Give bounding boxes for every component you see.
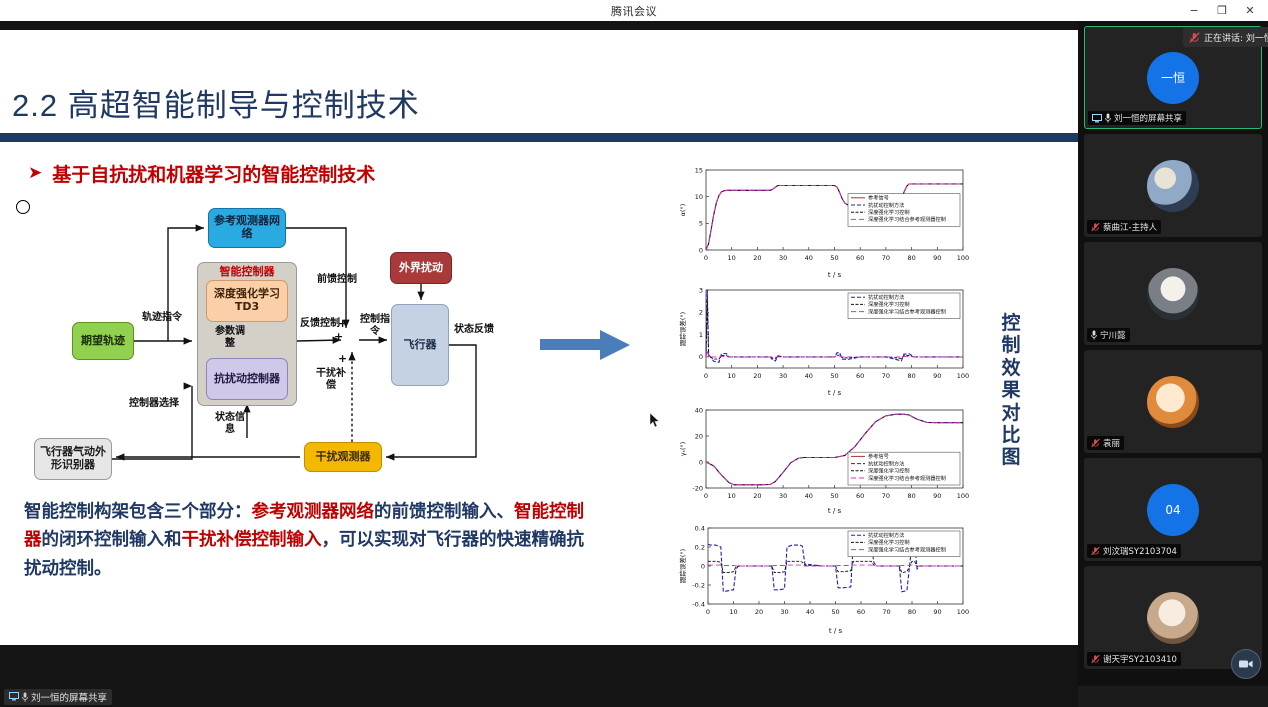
x-tick-label: 100 [957, 608, 969, 616]
minimize-button[interactable]: − [1180, 0, 1208, 21]
microphone-icon [1105, 113, 1111, 123]
x-tick-label: 60 [856, 254, 864, 262]
participant-label: 刘汶瑞SY2103704 [1087, 544, 1181, 558]
legend-label: 抗扰动控制方法 [868, 531, 904, 539]
x-tick-label: 60 [856, 372, 864, 380]
x-tick-label: 40 [806, 608, 814, 616]
x-tick-label: 80 [907, 372, 915, 380]
window-title: 腾讯会议 [611, 3, 657, 19]
edge-label-disturbance-compensation: 干扰补偿 [313, 368, 349, 391]
y-tick-label: 2 [699, 309, 703, 317]
avatar [1147, 268, 1199, 320]
x-tick-label: 50 [831, 608, 839, 616]
window-titlebar: 腾讯会议 − ❐ ✕ [0, 0, 1268, 21]
slide-bullet: ➤ 基于自抗扰和机器学习的智能控制技术 [28, 160, 375, 187]
legend-label: 深度强化学习结合参考观测器控制 [868, 545, 946, 553]
x-tick-label: 70 [882, 492, 890, 500]
avatar: 一恒 [1147, 52, 1199, 104]
x-tick-label: 30 [780, 608, 788, 616]
x-tick-label: 100 [957, 492, 969, 500]
y-tick-label: 0.4 [695, 524, 705, 532]
microphone-icon [1091, 330, 1097, 340]
x-axis-label: t / s [828, 389, 842, 397]
x-tick-label: 90 [933, 254, 941, 262]
x-tick-label: 50 [830, 254, 838, 262]
y-tick-label: 40 [695, 406, 703, 414]
participant-rail[interactable]: 一恒刘一恒的屏幕共享蔡曲江-主持人宁川懿袁丽04刘汶瑞SY2103704谢天宇S… [1078, 21, 1268, 686]
floating-action-button[interactable] [1231, 649, 1261, 679]
legend-label: 抗扰动控制方法 [868, 293, 904, 301]
x-tick-label: 0 [706, 608, 710, 616]
microphone-icon [22, 692, 28, 702]
slide-title: 2.2 高超智能制导与控制技术 [12, 80, 420, 125]
node-disturbance-observer: 干扰观测器 [304, 442, 382, 472]
mouse-cursor-icon [650, 413, 660, 428]
y-tick-label: 0 [699, 353, 703, 361]
y-axis-label: 跟踪误差(°) [678, 549, 687, 583]
y-tick-label: 3 [699, 286, 703, 294]
x-tick-label: 70 [882, 372, 890, 380]
paragraph-segment-1: 智能控制构架包含三个部分： [24, 502, 252, 522]
x-tick-label: 20 [753, 372, 761, 380]
avatar: 04 [1147, 484, 1199, 536]
x-tick-label: 10 [728, 492, 736, 500]
x-tick-label: 60 [857, 608, 865, 616]
share-bar-label: 刘一恒的屏幕共享 [31, 690, 107, 704]
title-divider [0, 133, 1078, 142]
y-tick-label: -0.4 [692, 600, 705, 608]
monitor-icon [1092, 114, 1102, 123]
legend-label: 抗扰动控制方法 [868, 459, 904, 467]
participant-label: 宁川懿 [1087, 328, 1130, 342]
edge-label-controller-selection: 控制器选择 [124, 398, 184, 410]
x-axis-label: t / s [829, 627, 843, 635]
flow-arrow-icon [540, 328, 632, 362]
participant-tile[interactable]: 04刘汶瑞SY2103704 [1084, 458, 1262, 561]
x-tick-label: 20 [755, 608, 763, 616]
legend-label: 深度强化学习结合参考观测器控制 [868, 474, 946, 482]
mic-muted-icon [1091, 438, 1100, 448]
x-tick-label: 70 [882, 608, 890, 616]
node-desired-trajectory: 期望轨迹 [72, 322, 134, 360]
participant-name: 刘一恒的屏幕共享 [1114, 112, 1182, 124]
slide-bullet-text: 基于自抗扰和机器学习的智能控制技术 [52, 160, 375, 187]
mic-muted-icon [1189, 32, 1200, 43]
paragraph-segment-2: 的前馈控制输入、 [374, 502, 514, 522]
participant-tile[interactable]: 蔡曲江-主持人 [1084, 134, 1262, 237]
edge-label-parameter-tuning: 参数调整 [212, 326, 248, 349]
x-tick-label: 90 [933, 492, 941, 500]
x-tick-label: 100 [957, 372, 969, 380]
participant-tile[interactable]: 袁丽 [1084, 350, 1262, 453]
chart-canvas: 0102030405060708090100-2002040t / sγₛ(°)… [676, 400, 971, 516]
x-tick-label: 90 [933, 608, 941, 616]
x-tick-label: 50 [830, 492, 838, 500]
plus-sign-compensation: + [338, 352, 347, 365]
shared-screen-stage: 2.2 高超智能制导与控制技术 ➤ 基于自抗扰和机器学习的智能控制技术 [0, 21, 1078, 686]
x-tick-label: 20 [753, 254, 761, 262]
participant-label: 蔡曲江-主持人 [1087, 220, 1161, 234]
x-tick-label: 10 [728, 372, 736, 380]
legend-label: 参考信号 [868, 452, 889, 460]
plus-sign-feedforward: + [334, 330, 343, 343]
paragraph-highlight-1: 参考观测器网络 [252, 502, 375, 522]
mic-muted-icon [1091, 654, 1100, 664]
chart-gamma: 0102030405060708090100-2002040t / sγₛ(°)… [676, 400, 971, 516]
participant-label: 谢天宇SY2103410 [1087, 652, 1181, 666]
y-axis-label: α(°) [679, 204, 687, 217]
chart-canvas: 0102030405060708090100-0.4-0.200.20.4t /… [676, 514, 971, 636]
video-camera-icon [1238, 656, 1254, 672]
avatar [1147, 376, 1199, 428]
y-tick-label: 1 [699, 331, 703, 339]
participant-label: 袁丽 [1087, 436, 1124, 450]
maximize-button[interactable]: ❐ [1208, 0, 1236, 21]
plus-sign-feedback: + [338, 317, 347, 330]
x-tick-label: 30 [779, 492, 787, 500]
avatar [1147, 160, 1199, 212]
x-tick-label: 60 [856, 492, 864, 500]
charts-vertical-label: 控制效果对比图 [996, 312, 1026, 469]
node-anti-disturbance-controller: 抗扰动控制器 [206, 358, 288, 400]
edge-label-feedback-control: 反馈控制 [299, 318, 341, 330]
legend-label: 深度强化学习控制 [868, 467, 910, 475]
slide-paragraph: 智能控制构架包含三个部分：参考观测器网络的前馈控制输入、智能控制器的闭环控制输入… [24, 498, 584, 583]
screen-share-bar: 刘一恒的屏幕共享 [0, 686, 1078, 707]
x-tick-label: 40 [805, 492, 813, 500]
x-tick-label: 80 [907, 254, 915, 262]
y-axis-label: 跟踪误差(°) [678, 312, 687, 346]
x-tick-label: 100 [957, 254, 969, 262]
y-tick-label: 0.2 [695, 543, 705, 551]
x-tick-label: 0 [704, 372, 708, 380]
control-architecture-diagram: 参考观测器网络 外界扰动 期望轨迹 智能控制器 深度强化学习TD3 抗扰动控制器… [16, 200, 536, 490]
edge-label-state-feedback: 状态反馈 [454, 324, 494, 336]
x-tick-label: 50 [830, 372, 838, 380]
x-tick-label: 70 [882, 254, 890, 262]
edge-label-state-info: 状态信息 [212, 412, 248, 435]
chart-canvas: 0102030405060708090100051015t / sα(°)参考信… [676, 162, 971, 280]
mic-muted-icon [1091, 546, 1100, 556]
y-tick-label: 0 [701, 562, 705, 570]
participant-name: 蔡曲江-主持人 [1103, 221, 1157, 233]
participant-label: 刘一恒的屏幕共享 [1088, 111, 1186, 125]
window-controls: − ❐ ✕ [1180, 0, 1264, 21]
paragraph-segment-3: 的闭环控制输入和 [42, 530, 182, 550]
y-axis-label: γₛ(°) [679, 442, 687, 457]
x-tick-label: 0 [704, 254, 708, 262]
node-reference-observer-network: 参考观测器网络 [208, 208, 286, 248]
participant-name: 袁丽 [1103, 437, 1120, 449]
y-tick-label: 20 [695, 432, 703, 440]
x-tick-label: 10 [728, 254, 736, 262]
node-shape-identifier: 飞行器气动外形识别器 [34, 438, 112, 480]
x-tick-label: 40 [805, 254, 813, 262]
y-tick-label: 0 [699, 458, 703, 466]
monitor-icon [9, 692, 19, 701]
chart-gamma-error: 0102030405060708090100-0.4-0.200.20.4t /… [676, 514, 971, 636]
participant-name: 宁川懿 [1100, 329, 1126, 341]
paragraph-highlight-3: 干扰补偿控制输入 [182, 530, 322, 550]
node-external-disturbance: 外界扰动 [390, 252, 452, 284]
edge-label-control-command: 控制指令 [356, 314, 394, 337]
legend-label: 深度强化学习控制 [868, 538, 910, 546]
presentation-slide: 2.2 高超智能制导与控制技术 ➤ 基于自抗扰和机器学习的智能控制技术 [0, 30, 1078, 645]
x-tick-label: 80 [908, 608, 916, 616]
legend-label: 深度强化学习控制 [868, 300, 910, 308]
avatar [1147, 592, 1199, 644]
close-button[interactable]: ✕ [1236, 0, 1264, 21]
node-vehicle: 飞行器 [391, 304, 449, 386]
x-tick-label: 10 [729, 608, 737, 616]
chart-canvas: 01020304050607080901000123t / s跟踪误差(°)抗扰… [676, 282, 971, 398]
x-tick-label: 20 [753, 492, 761, 500]
chart-alpha: 0102030405060708090100051015t / sα(°)参考信… [676, 162, 971, 280]
speaking-indicator-toast: 正在讲话: 刘一恒 [1183, 27, 1268, 47]
share-indicator: 刘一恒的屏幕共享 [4, 689, 112, 705]
legend-label: 深度强化学习结合参考观测器控制 [868, 307, 946, 315]
edge-label-feedforward-control: 前馈控制 [316, 274, 358, 286]
y-tick-label: 15 [695, 166, 703, 174]
chart-column: 0102030405060708090100051015t / sα(°)参考信… [676, 162, 971, 632]
x-tick-label: 80 [907, 492, 915, 500]
bullet-arrow-icon: ➤ [28, 165, 42, 182]
participant-tile[interactable]: 宁川懿 [1084, 242, 1262, 345]
y-tick-label: 5 [699, 220, 703, 228]
speaking-indicator-label: 正在讲话: 刘一恒 [1204, 31, 1268, 44]
legend-label: 深度强化学习结合参考观测器控制 [868, 215, 946, 223]
y-tick-label: 0 [699, 246, 703, 254]
y-tick-label: -0.2 [692, 581, 705, 589]
x-tick-label: 0 [704, 492, 708, 500]
legend-label: 参考信号 [868, 194, 889, 202]
y-tick-label: -20 [692, 484, 703, 492]
participant-name: 谢天宇SY2103410 [1103, 653, 1177, 665]
x-tick-label: 30 [779, 372, 787, 380]
x-tick-label: 40 [805, 372, 813, 380]
legend-label: 抗扰动控制方法 [868, 201, 904, 209]
node-deep-rl-td3: 深度强化学习TD3 [206, 280, 288, 322]
legend-label: 深度强化学习控制 [868, 208, 910, 216]
x-axis-label: t / s [828, 271, 842, 279]
participant-name: 刘汶瑞SY2103704 [1103, 545, 1177, 557]
x-tick-label: 90 [933, 372, 941, 380]
y-tick-label: 10 [695, 193, 703, 201]
mic-muted-icon [1091, 222, 1100, 232]
chart-alpha-error: 01020304050607080901000123t / s跟踪误差(°)抗扰… [676, 282, 971, 398]
x-tick-label: 30 [779, 254, 787, 262]
edge-label-trajectory-command: 轨迹指令 [134, 312, 190, 324]
